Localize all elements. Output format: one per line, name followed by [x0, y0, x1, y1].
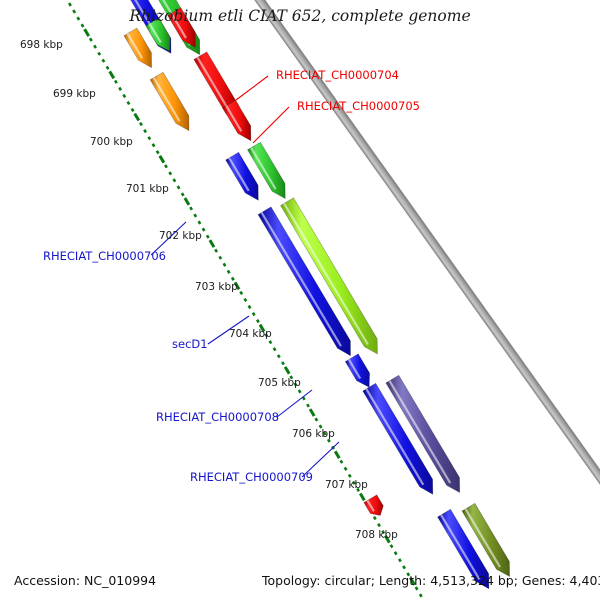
- gene-name-label[interactable]: RHECIAT_CH0000709: [190, 470, 313, 484]
- ruler-minor-tick: [115, 81, 117, 84]
- gene-name-label[interactable]: RHECIAT_CH0000704: [276, 68, 399, 82]
- gene-feature[interactable]: [345, 354, 369, 387]
- ruler-tick-label: 708 kbp: [355, 529, 398, 541]
- ruler-minor-tick: [253, 313, 255, 316]
- ruler-minor-tick: [374, 517, 376, 520]
- ruler-minor-tick: [94, 45, 96, 48]
- ruler-minor-tick: [98, 52, 100, 55]
- gene-name-label[interactable]: secD1: [172, 337, 208, 351]
- ruler-minor-tick: [182, 193, 184, 196]
- ruler-minor-tick: [282, 362, 284, 365]
- ruler-minor-tick: [149, 137, 151, 140]
- ruler-minor-tick: [82, 24, 84, 27]
- ruler-tick-label: 699 kbp: [53, 88, 96, 100]
- ruler-minor-tick: [73, 10, 75, 13]
- ruler-minor-tick: [349, 475, 351, 478]
- ruler-minor-tick: [274, 348, 276, 351]
- ruler-minor-tick: [240, 292, 242, 295]
- ruler-minor-tick: [169, 172, 171, 175]
- ruler-tick-label: 707 kbp: [325, 479, 368, 491]
- ruler-major-tick: [85, 29, 89, 36]
- gene-feature[interactable]: [364, 495, 383, 516]
- ruler-major-tick: [335, 451, 339, 458]
- ruler-minor-tick: [165, 165, 167, 168]
- ruler-major-tick: [135, 114, 139, 121]
- gene-labels[interactable]: RHECIAT_CH0000704RHECIAT_CH0000705RHECIA…: [43, 68, 420, 484]
- ruler-major-tick: [310, 409, 314, 416]
- ruler-major-tick: [160, 156, 164, 163]
- ruler-minor-tick: [403, 566, 405, 569]
- genome-map-viewer: 698 kbp699 kbp700 kbp701 kbp702 kbp703 k…: [0, 0, 600, 600]
- ruler-minor-tick: [190, 207, 192, 210]
- ruler-minor-tick: [153, 144, 155, 147]
- ruler-minor-tick: [228, 270, 230, 273]
- ruler-minor-tick: [278, 355, 280, 358]
- ruler-minor-tick: [140, 123, 142, 126]
- ruler-minor-tick: [220, 256, 222, 259]
- ruler-minor-tick: [103, 59, 105, 62]
- ruler-tick-label: 702 kbp: [159, 230, 202, 242]
- ruler-minor-tick: [391, 545, 393, 548]
- ruler-minor-tick: [178, 186, 180, 189]
- ruler-minor-tick: [132, 109, 134, 112]
- ruler-minor-tick: [78, 17, 80, 20]
- ruler-minor-tick: [395, 552, 397, 555]
- ruler-minor-tick: [69, 3, 71, 6]
- ruler-minor-tick: [194, 214, 196, 217]
- ruler-minor-tick: [399, 559, 401, 562]
- gene-feature-layer[interactable]: [109, 0, 510, 589]
- ruler-minor-tick: [174, 179, 176, 182]
- ruler-minor-tick: [128, 102, 130, 105]
- ruler-minor-tick: [157, 151, 159, 154]
- ruler-tick-label: 701 kbp: [126, 183, 169, 195]
- gene-name-label[interactable]: RHECIAT_CH0000706: [43, 249, 166, 263]
- ruler-minor-tick: [270, 341, 272, 344]
- ruler-minor-tick: [199, 221, 201, 224]
- ruler-tick-label: 700 kbp: [90, 136, 133, 148]
- ruler-minor-tick: [224, 263, 226, 266]
- accession-label: Accession: NC_010994: [14, 573, 156, 588]
- ruler-minor-tick: [232, 278, 234, 281]
- ruler-minor-tick: [107, 66, 109, 69]
- ruler-minor-tick: [303, 397, 305, 400]
- ruler-minor-tick: [119, 88, 121, 91]
- ruler-tick-label: 703 kbp: [195, 281, 238, 293]
- ruler-major-tick: [210, 240, 214, 247]
- ruler-minor-tick: [123, 95, 125, 98]
- ruler-tick-label: 704 kbp: [229, 328, 272, 340]
- gene-name-label[interactable]: RHECIAT_CH0000708: [156, 410, 279, 424]
- ruler-minor-tick: [203, 228, 205, 231]
- ruler-minor-tick: [307, 404, 309, 407]
- ruler-major-tick: [285, 367, 289, 374]
- gene-name-label[interactable]: RHECIAT_CH0000705: [297, 99, 420, 113]
- ruler-minor-tick: [245, 299, 247, 302]
- ruler-minor-tick: [299, 390, 301, 393]
- ruler-major-tick: [360, 494, 364, 501]
- label-leader-line: [253, 107, 289, 143]
- ruler-minor-tick: [215, 249, 217, 252]
- ruler-minor-tick: [341, 460, 343, 463]
- ruler-minor-tick: [345, 467, 347, 470]
- ruler-minor-tick: [207, 235, 209, 238]
- ruler-minor-tick: [378, 524, 380, 527]
- label-leader-line: [236, 76, 268, 100]
- ruler-minor-tick: [144, 130, 146, 133]
- ruler-minor-tick: [257, 320, 259, 323]
- ruler-tick-label: 706 kbp: [292, 428, 335, 440]
- ruler-tick-label: 698 kbp: [20, 39, 63, 51]
- page-title: Rhizobium etli CIAT 652, complete genome: [128, 7, 470, 25]
- ruler-minor-tick: [420, 594, 422, 597]
- ruler-tick-label: 705 kbp: [258, 377, 301, 389]
- ruler-minor-tick: [90, 38, 92, 41]
- genome-stats-label: Topology: circular; Length: 4,513,324 bp…: [261, 573, 600, 588]
- genome-map-canvas[interactable]: 698 kbp699 kbp700 kbp701 kbp702 kbp703 k…: [0, 0, 600, 600]
- label-leader-line: [277, 390, 312, 417]
- ruler-minor-tick: [249, 306, 251, 309]
- ruler-minor-tick: [316, 418, 318, 421]
- ruler-major-tick: [185, 198, 189, 205]
- ruler-major-tick: [110, 71, 114, 78]
